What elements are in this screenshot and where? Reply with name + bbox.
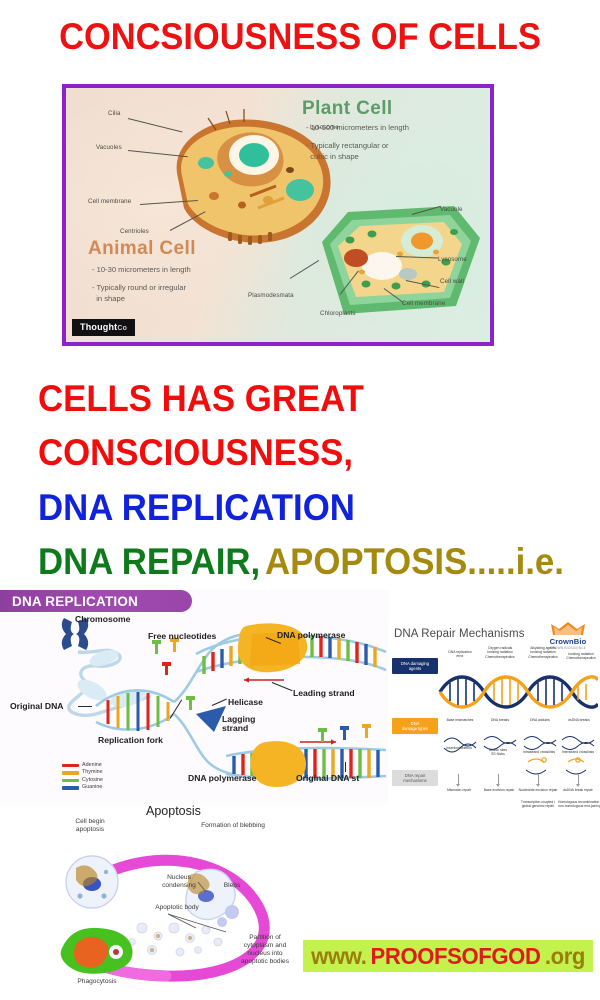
label-cell-wall: Cell wall <box>440 278 464 285</box>
label-partition: Partition of cytoplasm and nucleus into … <box>230 934 300 966</box>
footer-suffix: .org <box>545 943 585 970</box>
damage-type-2: DNA breaks <box>482 718 518 722</box>
plant-cell-bullet-2: - Typically rectangular or cubic in shap… <box>306 140 389 162</box>
page-title: CONCSIOUSNESS OF CELLS <box>21 16 579 58</box>
statement-line-5: APOPTOSIS.....i.e. <box>265 541 564 583</box>
arrow-4 <box>578 774 579 784</box>
apoptosis-panel: Apoptosis <box>46 800 346 1000</box>
sub-damage-4: Interstrand crosslinks <box>558 750 598 754</box>
statement-line-3: DNA REPLICATION <box>38 487 355 529</box>
label-lysosome-p: Lysosome <box>438 256 467 263</box>
agent-item-1: DNA replication error <box>444 650 476 659</box>
repair-mechanism-1: Mismatch repair <box>440 788 478 792</box>
legend-item-guanine: Guanine <box>62 784 103 791</box>
statement-line-2: CONSCIOUSNESS, <box>38 432 353 474</box>
thoughtco-suffix: Co <box>117 325 127 332</box>
repair-sub-2: Homologous recombination / non-homologou… <box>558 800 600 808</box>
arrow-2 <box>498 774 499 784</box>
footer-prefix: www. <box>311 943 366 970</box>
label-formation-blebbing: Formation of blebbing <box>178 822 288 830</box>
damage-type-3: DNA adducts <box>522 718 558 722</box>
label-dna-polymerase-top: DNA polymerase <box>277 630 345 640</box>
animal-cell-title: Animal Cell <box>88 238 196 260</box>
legend-item-adenine: Adenine <box>62 762 103 769</box>
label-apoptotic-body: Apoptotic body <box>142 904 212 912</box>
tag-dna-damaging-agents: DNA damaging agents <box>392 658 438 674</box>
damage-type-1: Base mismatches <box>442 718 478 722</box>
animal-cell-bullet-1: - 10-30 micrometers in length <box>92 264 191 275</box>
agent-item-3: Alkylating agents Ionizing radiation Che… <box>524 646 562 659</box>
legend-label-guanine: Guanine <box>82 784 102 791</box>
label-replication-fork: Replication fork <box>98 735 163 745</box>
legend-item-cytosine: Cytosine <box>62 777 103 784</box>
repair-mechanism-2: Base excision repair <box>480 788 518 792</box>
legend-swatch-guanine <box>62 786 79 789</box>
statement-line-1: CELLS HAS GREAT <box>38 378 364 420</box>
legend-swatch-thymine <box>62 771 79 774</box>
label-plasmodesmata: Plasmodesmata <box>248 292 294 299</box>
footer-brand: PROOFSOFGOD <box>371 943 541 970</box>
label-vacuole: Vacuole <box>440 206 463 213</box>
label-original-dna-strand: Original DNA st <box>296 773 359 783</box>
label-lysosome-a: Lysosome <box>310 124 339 131</box>
legend-label-cytosine: Cytosine <box>82 777 103 784</box>
label-chloroplasts: Chloroplasts <box>320 310 356 317</box>
label-cilia: Cilia <box>108 110 121 117</box>
thoughtco-badge: ThoughtCo <box>72 319 135 336</box>
label-free-nucleotides: Free nucleotides <box>148 631 216 641</box>
nucleotide-legend: Adenine Thymine Cytosine Guanine <box>62 762 103 792</box>
legend-item-thymine: Thymine <box>62 769 103 776</box>
dna-replication-banner: DNA REPLICATION <box>0 590 192 612</box>
repair-sub-1: Transcription coupled / global genomic r… <box>518 800 558 808</box>
label-vacuoles: Vacuoles <box>96 144 122 151</box>
dna-repair-panel: DNA Repair Mechanisms CrownBio CROWN BIO… <box>388 618 600 808</box>
statement-line-4: DNA REPAIR, <box>38 541 260 583</box>
label-leading-strand: Leading strand <box>293 688 355 698</box>
dna-repair-title: DNA Repair Mechanisms <box>394 628 525 640</box>
label-dna-polymerase-bottom: DNA polymerase <box>188 773 256 783</box>
tag-dna-damage-types: DNA damage types <box>392 718 438 734</box>
label-nucleus-condensing: Nucleus condensing <box>154 874 204 890</box>
label-original-dna: Original DNA <box>10 701 63 711</box>
label-blebs: Blebs <box>216 882 248 890</box>
arrow-1 <box>458 774 459 784</box>
repair-mechanism-4: dsDNA break repair <box>558 788 598 792</box>
repair-mechanism-3: Nucleotide excision repair <box>518 788 558 792</box>
cell-diagram-card: Plant Cell - 10-100 micrometers in lengt… <box>62 84 494 346</box>
agent-item-5: Ionizing radiation Chemotherapeutics <box>564 652 598 661</box>
footer-watermark[interactable]: www. PROOFSOFGOD .org <box>303 940 593 972</box>
sub-damage-1: Insertion/deletion <box>440 746 478 750</box>
dna-replication-panel: DNA REPLICATION <box>0 590 390 805</box>
label-cell-membrane-a: Cell membrane <box>88 198 131 205</box>
animal-cell-bullet-2: - Typically round or irregular in shape <box>92 282 186 304</box>
legend-label-thymine: Thymine <box>82 769 103 776</box>
damage-type-4: dsDNA breaks <box>560 718 598 722</box>
label-centrioles: Centrioles <box>120 228 149 235</box>
agent-item-2: Oxygen radicals Ionizing radiation Chemo… <box>480 646 520 659</box>
thoughtco-label: Thought <box>80 322 117 332</box>
legend-label-adenine: Adenine <box>82 762 102 769</box>
sub-damage-2: Abasic sites SS Nicks <box>480 748 516 757</box>
label-cell-begin-apoptosis: Cell begin apoptosis <box>62 818 118 834</box>
label-lagging-strand: Lagging strand <box>222 715 255 733</box>
legend-swatch-cytosine <box>62 779 79 782</box>
label-phagocytosis: Phagocytosis <box>64 978 130 986</box>
poster-root: CONCSIOUSNESS OF CELLS <box>0 0 600 1000</box>
label-cell-membrane-p: Cell membrane <box>402 300 445 307</box>
tag-dna-repair-mechanisms: DNA repair mechanisms <box>392 770 438 786</box>
repair-helix-illustration <box>438 670 598 714</box>
arrow-3 <box>538 774 539 784</box>
leader-original-dna <box>78 706 92 707</box>
label-helicase: Helicase <box>228 697 263 707</box>
sub-damage-3: Intrastrand crosslinks <box>520 750 558 754</box>
crownbio-name: CrownBio <box>542 637 594 646</box>
crown-icon <box>551 621 585 637</box>
plant-cell-title: Plant Cell <box>302 98 393 120</box>
label-chromosome: Chromosome <box>75 614 130 624</box>
leader-original-dna-strand <box>345 762 346 772</box>
legend-swatch-adenine <box>62 764 79 767</box>
